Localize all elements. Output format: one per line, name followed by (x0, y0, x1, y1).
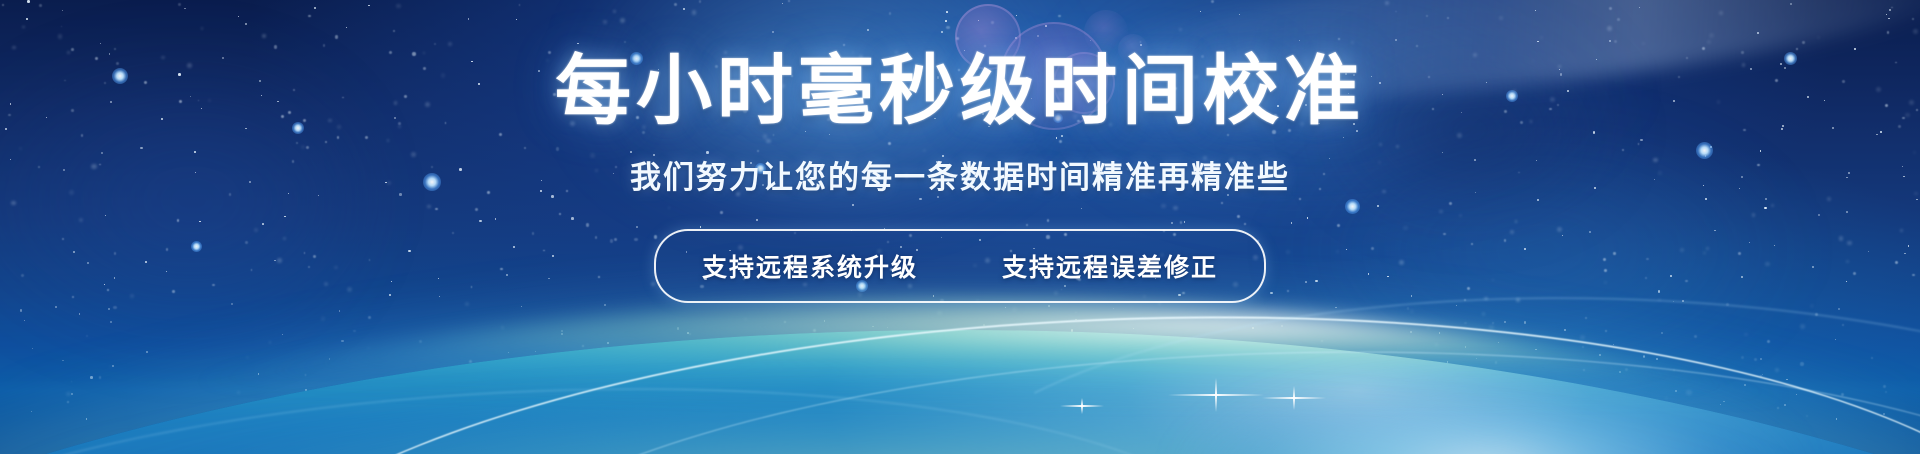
hero-banner: 每小时毫秒级时间校准 我们努力让您的每一条数据时间精准再精准些 支持远程系统升级… (0, 0, 1920, 454)
feature-label-remote-system-upgrade: 支持远程系统升级 (702, 248, 918, 284)
feature-label-remote-error-correction: 支持远程误差修正 (1002, 248, 1218, 284)
feature-callout-box: 支持远程系统升级 支持远程误差修正 (654, 229, 1266, 303)
banner-content: 每小时毫秒级时间校准 我们努力让您的每一条数据时间精准再精准些 支持远程系统升级… (0, 0, 1920, 454)
page-subtitle: 我们努力让您的每一条数据时间精准再精准些 (630, 152, 1290, 197)
page-title: 每小时毫秒级时间校准 (555, 52, 1365, 132)
